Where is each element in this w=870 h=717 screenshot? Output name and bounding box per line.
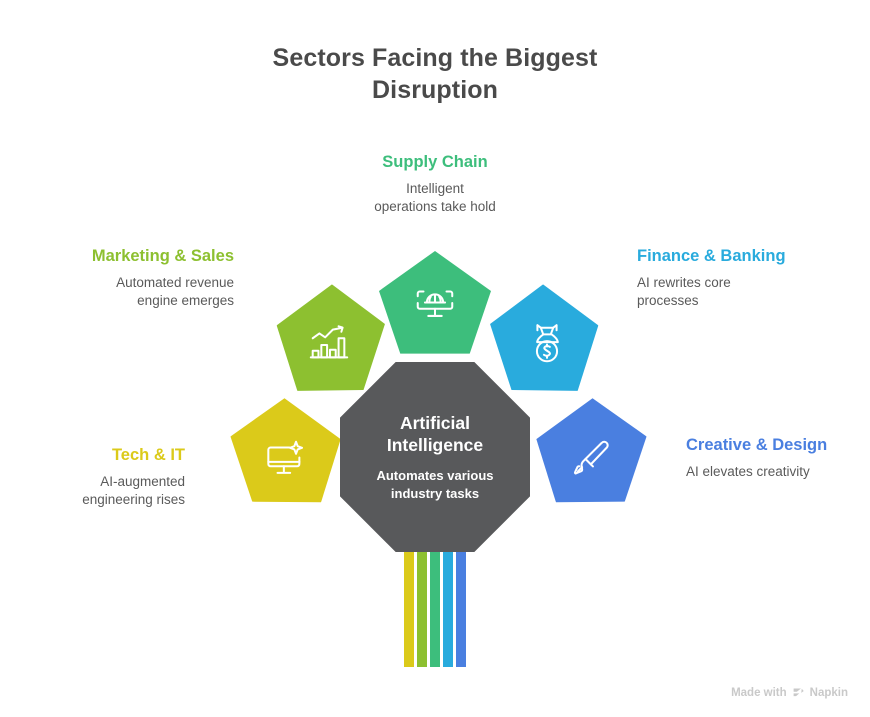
- sector-label-description: AI-augmented engineering rises: [35, 473, 185, 509]
- stem-bar: [417, 552, 427, 667]
- sector-label-description: Intelligent operations take hold: [335, 180, 535, 216]
- sector-label-heading: Tech & IT: [35, 445, 185, 466]
- money-bag-icon: [524, 321, 570, 367]
- sector-label-supply-chain: Supply Chain Intelligent operations take…: [335, 152, 535, 216]
- watermark-prefix: Made with: [731, 687, 787, 699]
- sector-label-tech-it: Tech & IT AI-augmented engineering rises: [35, 445, 185, 509]
- stem-bar: [404, 552, 414, 667]
- monitor-hardhat-icon: [412, 280, 458, 326]
- sector-label-description: AI rewrites core processes: [637, 274, 812, 310]
- sector-label-marketing-sales: Marketing & Sales Automated revenue engi…: [73, 246, 234, 310]
- sector-label-heading: Marketing & Sales: [73, 246, 234, 267]
- paintbrush-icon: [569, 436, 615, 482]
- stem-bar: [456, 552, 466, 667]
- bar-chart-growth-icon: [306, 321, 352, 367]
- stem-bar: [430, 552, 440, 667]
- diagram-stage: Artificial Intelligence Automates variou…: [0, 0, 870, 717]
- center-node-description: Automates various industry tasks: [340, 467, 530, 502]
- sector-node-supply-chain[interactable]: [379, 251, 491, 359]
- stem-bar: [443, 552, 453, 667]
- sector-label-heading: Finance & Banking: [637, 246, 812, 267]
- sector-label-heading: Supply Chain: [335, 152, 535, 173]
- stem-bars-group: [404, 552, 466, 667]
- napkin-logo-icon: [792, 686, 805, 699]
- sector-label-finance-banking: Finance & Banking AI rewrites core proce…: [637, 246, 812, 310]
- sector-node-marketing-sales[interactable]: [272, 288, 384, 396]
- sector-label-description: Automated revenue engine emerges: [73, 274, 234, 310]
- sector-node-tech-it[interactable]: [228, 404, 340, 512]
- sector-node-finance-banking[interactable]: [491, 288, 603, 396]
- sector-label-creative-design: Creative & Design AI elevates creativity: [686, 435, 861, 481]
- center-node-artificial-intelligence[interactable]: Artificial Intelligence Automates variou…: [340, 362, 530, 552]
- monitor-sparkle-icon: [262, 436, 308, 482]
- center-node-title: Artificial Intelligence: [340, 412, 530, 456]
- sector-label-heading: Creative & Design: [686, 435, 861, 456]
- sector-label-description: AI elevates creativity: [686, 463, 861, 481]
- napkin-watermark: Made with Napkin: [731, 686, 848, 699]
- sector-node-creative-design[interactable]: [537, 404, 649, 512]
- infographic-canvas: Sectors Facing the Biggest Disruption: [0, 0, 870, 717]
- watermark-brand: Napkin: [810, 687, 848, 699]
